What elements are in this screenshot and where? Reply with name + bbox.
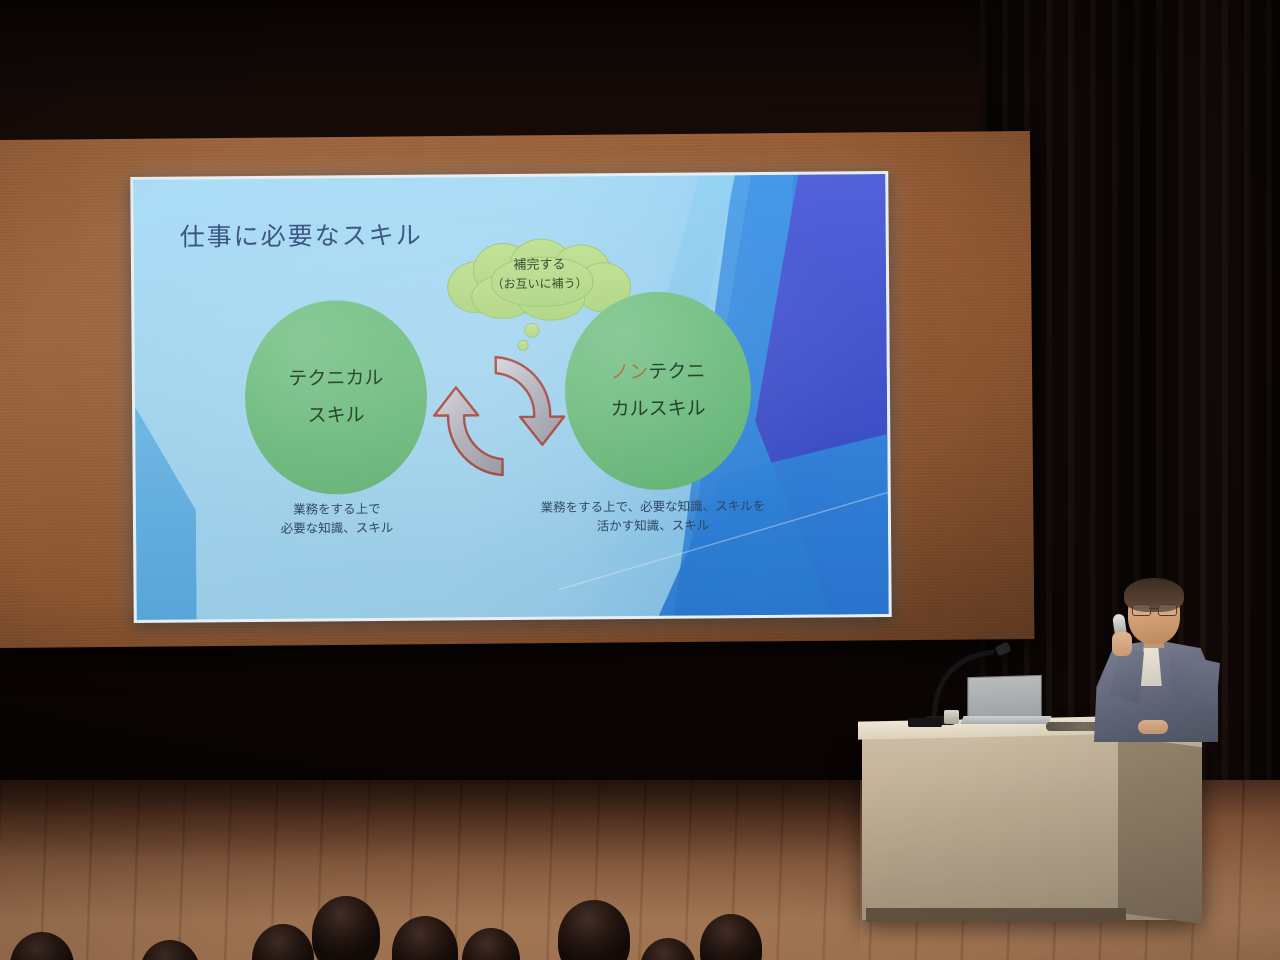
presentation-scene: 仕事に必要なスキル 補完する （お互いに補う） テクニカル [0,0,1280,960]
glasses-icon [1132,604,1176,614]
right-circle-accent: ノン [610,361,648,383]
left-circle-line-2: スキル [307,397,364,434]
cycle-arrows-icon [428,345,571,488]
thought-cloud-text: 補完する （お互いに補う） [447,256,632,294]
presenter-hand-on-desk [1138,720,1168,734]
right-circle-line-2: カルスキル [610,390,705,428]
right-caption: 業務をする上で、必要な知識、スキルを 活かす知識、スキル [488,497,818,537]
podium-base [866,908,1126,922]
presenter-hand-holding-mic [1112,632,1132,656]
podium-side-panel [1118,736,1202,924]
cloud-line-1: 補完する [447,256,632,276]
projected-slide: 仕事に必要なスキル 補完する （お互いに補う） テクニカル [130,171,891,623]
presenter [1092,578,1222,738]
presenter-remote [908,718,942,727]
slide-canvas: 仕事に必要なスキル 補完する （お互いに補う） テクニカル [133,174,888,620]
left-caption-line-1: 業務をする上で [222,499,452,520]
slide-title: 仕事に必要なスキル [180,216,423,254]
right-caption-line-2: 活かす知識、スキル [488,515,818,536]
left-caption-line-2: 必要な知識、スキル [222,518,452,539]
slide-decor-shape-6 [135,359,197,619]
right-circle-line-1: ノンテクニ [610,353,705,391]
right-caption-line-1: 業務をする上で、必要な知識、スキルを [488,497,818,518]
thought-cloud: 補完する （お互いに補う） [447,238,633,317]
left-caption: 業務をする上で 必要な知識、スキル [222,499,452,538]
cup [944,710,959,724]
left-circle-line-1: テクニカル [288,360,383,398]
right-circle-rest: テクニ [648,360,705,382]
technical-skill-circle: テクニカル スキル [244,300,428,495]
thought-bubble-large [524,323,539,338]
nontechnical-skill-circle: ノンテクニ カルスキル [564,291,752,490]
cloud-line-2: （お互いに補う） [447,275,632,294]
slide-decor-hairline [558,464,889,617]
